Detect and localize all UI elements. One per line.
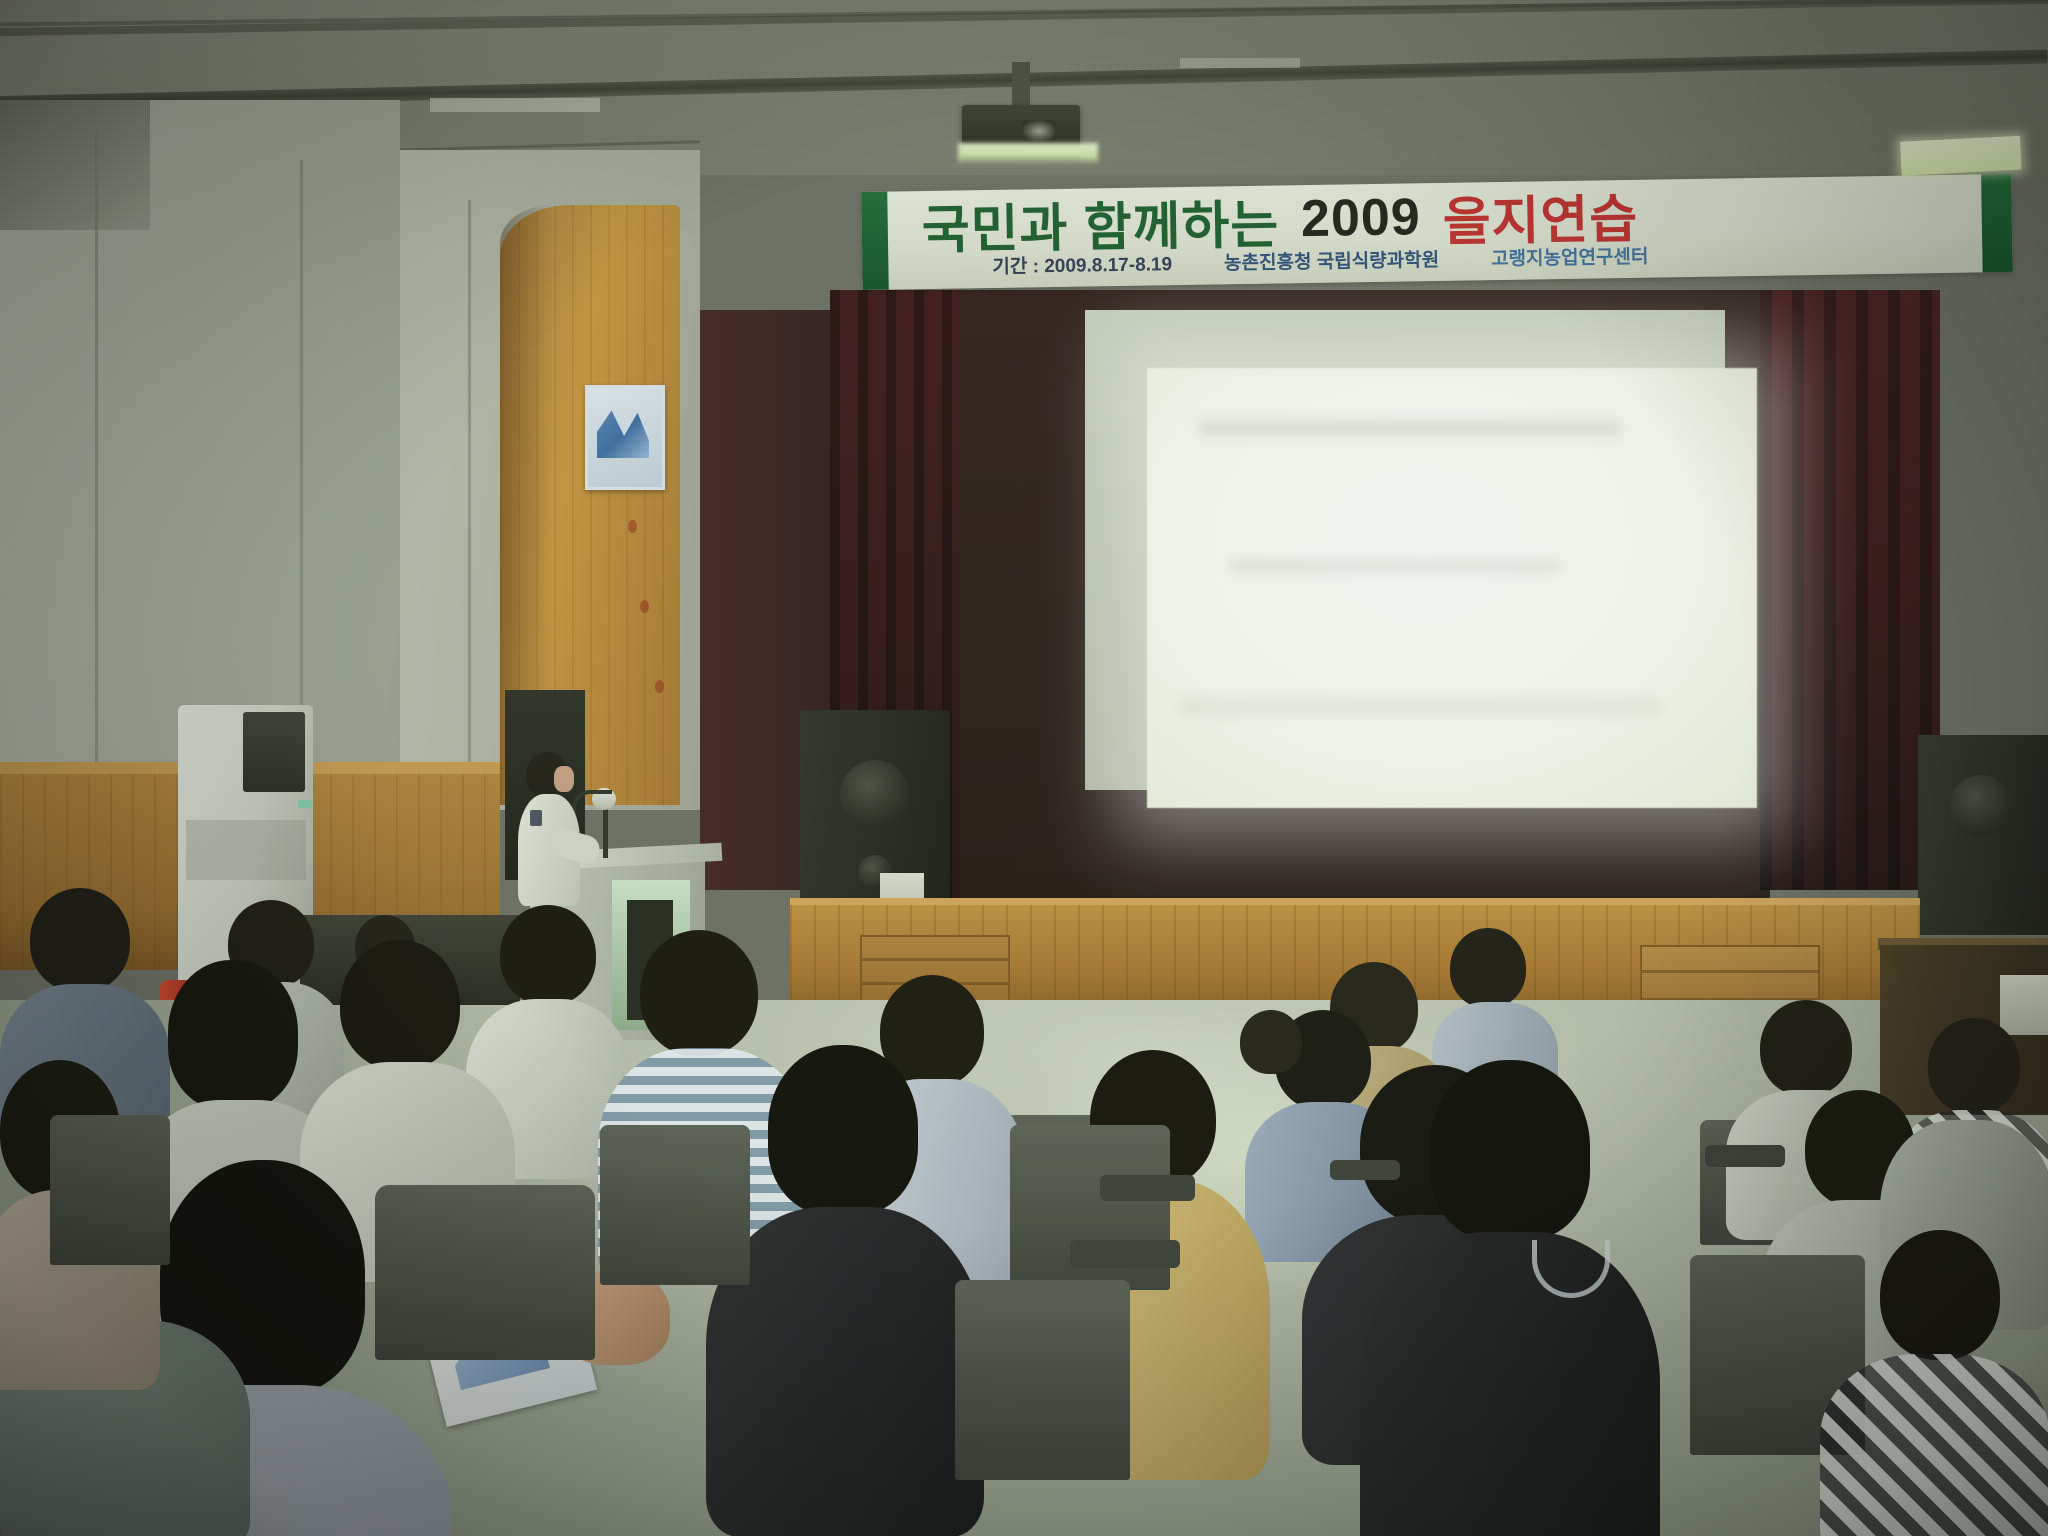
projector-light-beam <box>958 143 1098 165</box>
wall-left-slope <box>0 100 150 230</box>
chair-arm-r1[interactable] <box>1330 1160 1400 1180</box>
head <box>1928 1018 2020 1114</box>
banner-title-year: 2009 <box>1301 187 1422 249</box>
head <box>1760 1000 1852 1096</box>
head <box>500 905 596 1005</box>
ceiling-vent-right <box>1180 58 1300 68</box>
banner-tab-left <box>861 192 889 290</box>
projection-content-line-2 <box>1230 560 1560 572</box>
banner-org-secondary: 고랭지농업연구센터 <box>1491 242 1649 271</box>
stage-step-line-3 <box>1642 970 1818 973</box>
presenter-face <box>554 766 574 792</box>
air-conditioner-panel[interactable] <box>186 820 306 880</box>
wall-seam-c <box>468 200 471 770</box>
projection-content-line-3 <box>1180 700 1660 714</box>
chair-left-3[interactable] <box>600 1125 750 1285</box>
head <box>1450 928 1526 1008</box>
head <box>768 1045 918 1215</box>
head <box>1430 1060 1590 1240</box>
chair-left-2[interactable] <box>375 1185 595 1360</box>
stage-step-line-1 <box>862 958 1008 961</box>
banner-org-primary: 농촌진흥청 국립식량과학원 <box>1224 245 1439 275</box>
head <box>640 930 758 1056</box>
loudspeaker-left-cone-icon <box>840 760 910 830</box>
projector-mount <box>1012 62 1030 110</box>
torso <box>1820 1354 2048 1536</box>
wood-knot-3 <box>628 520 637 533</box>
wood-knot-1 <box>640 600 649 613</box>
head <box>1240 1010 1302 1074</box>
air-conditioner-grille-icon <box>243 712 305 792</box>
control-monitor <box>2000 975 2048 1035</box>
projector-lens-icon <box>1022 120 1056 142</box>
event-banner: 국민과 함께하는 2009 을지연습 기간 : 2009.8.17-8.19 농… <box>861 174 2012 290</box>
head <box>30 888 130 992</box>
head <box>340 940 460 1070</box>
banner-tab-right <box>1981 174 2013 272</box>
wall-seam-a <box>95 130 98 770</box>
presenter-badge-icon <box>530 810 542 826</box>
banner-date: 기간 : 2009.8.17-8.19 <box>992 249 1172 279</box>
ceiling-vent-left <box>430 98 600 112</box>
wall-seam-b <box>300 160 303 770</box>
air-conditioner-indicator-icon <box>298 800 312 808</box>
photograph-scene: 국민과 함께하는 2009 을지연습 기간 : 2009.8.17-8.19 농… <box>0 0 2048 1536</box>
banner-light-glare <box>1900 136 2022 176</box>
head <box>1880 1230 2000 1360</box>
wood-knot-2 <box>655 680 664 693</box>
torso <box>1360 1232 1660 1536</box>
loudspeaker-right-cone-icon <box>1950 775 2012 837</box>
chair-mid-2[interactable] <box>955 1280 1130 1480</box>
chair-arm-left-2[interactable] <box>1070 1240 1180 1268</box>
chair-left-1[interactable] <box>50 1115 170 1265</box>
chair-arm-r2[interactable] <box>1705 1145 1785 1167</box>
head <box>168 960 298 1110</box>
projection-content-line-1 <box>1200 420 1620 436</box>
chair-arm-left-1[interactable] <box>1100 1175 1195 1201</box>
stage-curtain-right <box>1760 290 1940 890</box>
